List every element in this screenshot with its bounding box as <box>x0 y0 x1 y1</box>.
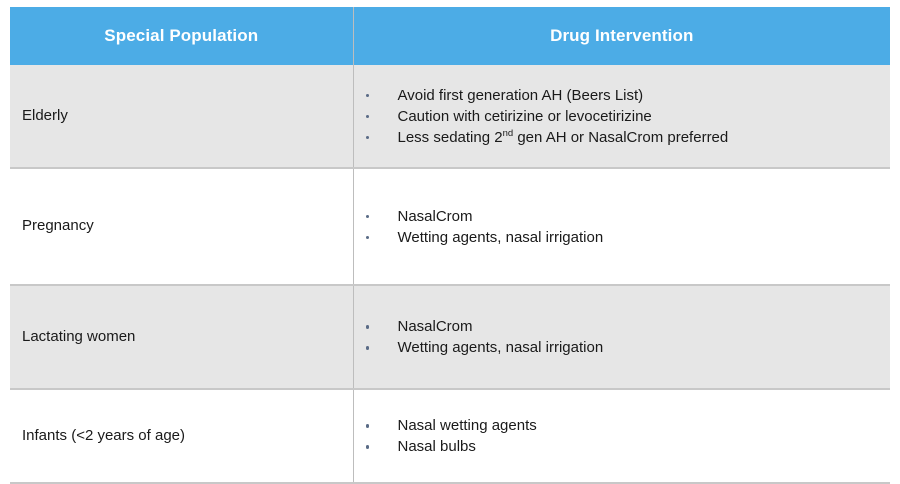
bullet-icon <box>366 215 370 219</box>
table-header-row: Special Population Drug Intervention <box>10 7 890 65</box>
list-item: NasalCrom <box>354 206 881 227</box>
special-population-table-wrapper: Special Population Drug Intervention Eld… <box>10 7 890 484</box>
intervention-cell: NasalCrom Wetting agents, nasal irrigati… <box>353 168 890 285</box>
bullet-icon <box>366 115 370 119</box>
list-item-label: NasalCrom <box>398 208 473 225</box>
list-item-label-superscript: nd <box>503 128 514 139</box>
list-item-label: Caution with cetirizine or levocetirizin… <box>398 108 652 125</box>
population-cell: Infants (<2 years of age) <box>10 389 353 483</box>
list-item-label-post: gen AH or NasalCrom preferred <box>513 129 728 146</box>
intervention-cell: Nasal wetting agents Nasal bulbs <box>353 389 890 483</box>
bullet-icon <box>366 236 370 240</box>
list-item: Caution with cetirizine or levocetirizin… <box>354 106 881 127</box>
table-row: Elderly Avoid first generation AH (Beers… <box>10 65 890 168</box>
list-item: Nasal wetting agents <box>354 415 881 436</box>
special-population-drug-intervention-table: Special Population Drug Intervention Eld… <box>10 7 890 484</box>
list-item-label: Avoid first generation AH (Beers List) <box>398 87 644 104</box>
list-item: Nasal bulbs <box>354 436 881 457</box>
population-cell: Elderly <box>10 65 353 168</box>
list-item: Less sedating 2nd gen AH or NasalCrom pr… <box>354 127 881 148</box>
list-item: Avoid first generation AH (Beers List) <box>354 85 881 106</box>
intervention-list: Nasal wetting agents Nasal bulbs <box>354 415 881 457</box>
list-item-label: Nasal wetting agents <box>398 417 537 434</box>
population-cell: Lactating women <box>10 285 353 389</box>
slide-canvas: Special Population Drug Intervention Eld… <box>0 0 900 436</box>
bullet-icon <box>366 346 370 350</box>
column-header-drug-intervention: Drug Intervention <box>353 7 890 65</box>
bullet-icon <box>366 424 370 428</box>
intervention-cell: NasalCrom Wetting agents, nasal irrigati… <box>353 285 890 389</box>
intervention-list: Avoid first generation AH (Beers List) C… <box>354 85 881 148</box>
intervention-list: NasalCrom Wetting agents, nasal irrigati… <box>354 316 881 358</box>
table-row: Infants (<2 years of age) Nasal wetting … <box>10 389 890 483</box>
bullet-icon <box>366 445 370 449</box>
table-row: Lactating women NasalCrom Wetting agents… <box>10 285 890 389</box>
table-row: Pregnancy NasalCrom Wetting agents, nasa… <box>10 168 890 285</box>
list-item-label: Wetting agents, nasal irrigation <box>398 339 604 356</box>
list-item: Wetting agents, nasal irrigation <box>354 337 881 358</box>
table-header: Special Population Drug Intervention <box>10 7 890 65</box>
list-item: NasalCrom <box>354 316 881 337</box>
list-item: Wetting agents, nasal irrigation <box>354 227 881 248</box>
bullet-icon <box>366 325 370 329</box>
bullet-icon <box>366 136 370 140</box>
bullet-icon <box>366 94 370 98</box>
list-item-label: NasalCrom <box>398 318 473 335</box>
list-item-label-pre: Less sedating 2 <box>398 129 503 146</box>
table-body: Elderly Avoid first generation AH (Beers… <box>10 65 890 483</box>
list-item-label: Nasal bulbs <box>398 438 476 455</box>
intervention-cell: Avoid first generation AH (Beers List) C… <box>353 65 890 168</box>
column-header-special-population: Special Population <box>10 7 353 65</box>
intervention-list: NasalCrom Wetting agents, nasal irrigati… <box>354 206 881 248</box>
population-cell: Pregnancy <box>10 168 353 285</box>
list-item-label: Wetting agents, nasal irrigation <box>398 229 604 246</box>
